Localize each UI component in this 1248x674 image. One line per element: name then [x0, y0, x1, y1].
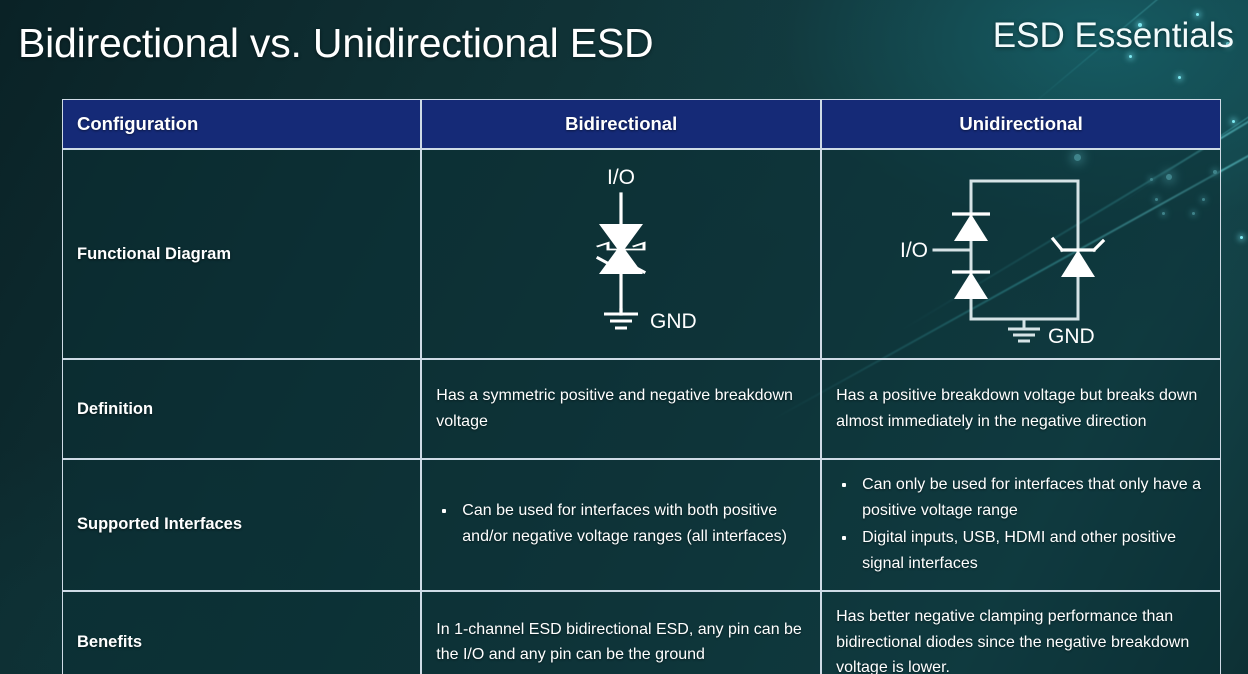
- row-label-functional-diagram: Functional Diagram: [62, 149, 421, 359]
- table-row: Definition Has a symmetric positive and …: [62, 359, 1221, 459]
- bullet-list: Can only be used for interfaces that onl…: [836, 472, 1206, 577]
- comparison-table-wrapper: Configuration Bidirectional Unidirection…: [62, 99, 1221, 664]
- table-row: Functional Diagram: [62, 149, 1221, 359]
- definition-bidirectional: Has a symmetric positive and negative br…: [421, 359, 821, 459]
- io-label: I/O: [607, 166, 635, 189]
- slide-canvas: Bidirectional vs. Unidirectional ESD ESD…: [0, 0, 1248, 674]
- supported-interfaces-unidirectional: Can only be used for interfaces that onl…: [821, 459, 1221, 591]
- table-header: Configuration Bidirectional Unidirection…: [62, 99, 1221, 149]
- lower-steering-diode-triangle: [954, 272, 988, 299]
- io-label: I/O: [900, 239, 928, 262]
- list-item: Can only be used for interfaces that onl…: [836, 472, 1206, 524]
- sparkle-dot-icon: [1178, 76, 1181, 79]
- bidirectional-tvs-diode-icon: I/O GND: [526, 162, 716, 347]
- row-label-definition: Definition: [62, 359, 421, 459]
- gnd-label: GND: [1048, 325, 1095, 348]
- sparkle-dot-icon: [1240, 236, 1243, 239]
- zener-diode-triangle: [1061, 250, 1095, 277]
- definition-unidirectional: Has a positive breakdown voltage but bre…: [821, 359, 1221, 459]
- sparkle-dot-icon: [1232, 120, 1235, 123]
- row-label-supported-interfaces: Supported Interfaces: [62, 459, 421, 591]
- ground-symbol-icon: [604, 314, 638, 328]
- table-row: Benefits In 1-channel ESD bidirectional …: [62, 591, 1221, 674]
- supported-interfaces-bidirectional: Can be used for interfaces with both pos…: [421, 459, 821, 591]
- row-label-benefits: Benefits: [62, 591, 421, 674]
- column-header-configuration: Configuration: [62, 99, 421, 149]
- bullet-list: Can be used for interfaces with both pos…: [436, 498, 806, 550]
- bidirectional-diagram-cell: I/O GND: [421, 149, 821, 359]
- list-item: Digital inputs, USB, HDMI and other posi…: [836, 525, 1206, 577]
- column-header-unidirectional: Unidirectional: [821, 99, 1221, 149]
- benefits-unidirectional: Has better negative clamping performance…: [821, 591, 1221, 674]
- unidirectional-diagram-cell: I/O GND: [821, 149, 1221, 359]
- list-item: Can be used for interfaces with both pos…: [436, 498, 806, 550]
- ground-symbol-icon: [1008, 329, 1040, 341]
- table-header-row: Configuration Bidirectional Unidirection…: [62, 99, 1221, 149]
- gnd-label: GND: [650, 310, 697, 333]
- table-row: Supported Interfaces Can be used for int…: [62, 459, 1221, 591]
- series-label: ESD Essentials: [993, 16, 1234, 56]
- unidirectional-esd-circuit-icon: I/O GND: [896, 159, 1146, 349]
- benefits-bidirectional: In 1-channel ESD bidirectional ESD, any …: [421, 591, 821, 674]
- comparison-table: Configuration Bidirectional Unidirection…: [62, 99, 1221, 674]
- column-header-bidirectional: Bidirectional: [421, 99, 821, 149]
- page-title: Bidirectional vs. Unidirectional ESD: [18, 20, 653, 67]
- upper-steering-diode-triangle: [954, 214, 988, 241]
- table-body: Functional Diagram: [62, 149, 1221, 674]
